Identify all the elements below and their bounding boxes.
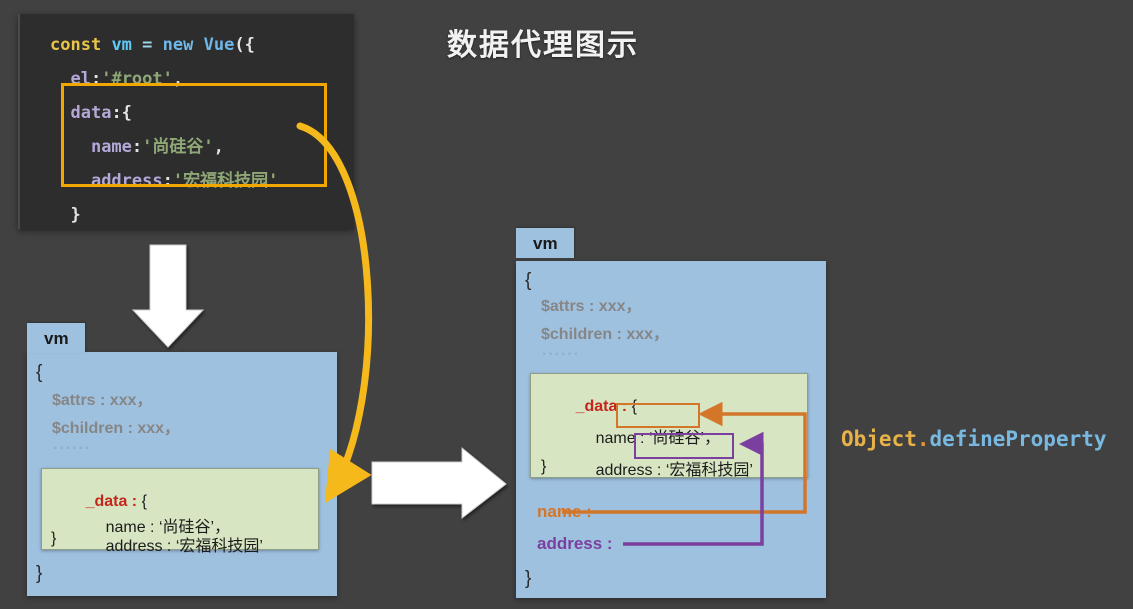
left-entry-address-key: address [106,538,163,555]
code-token [50,205,70,225]
code-token: vm [111,35,131,55]
odp-method: defineProperty [930,427,1107,451]
code-token: = [142,35,152,55]
page-title: 数据代理图示 [447,20,639,64]
left-vm-open-brace: { [36,362,42,384]
right-entry-address-key: address [596,462,653,479]
right-vm-tab: vm [516,228,574,258]
white-right-arrow [372,448,506,518]
right-vm-field-children: $children : xxx， [541,320,669,344]
code-token [193,35,203,55]
left-data-box: _data : { name : ‘尚硅谷’， address : ‘宏福科技园… [41,468,319,550]
code-token [152,35,162,55]
left-data-entry-address: address : ‘宏福科技园’ [70,514,263,574]
left-data-close: } [51,530,56,548]
left-vm-field-attrs: $attrs : xxx， [52,386,153,410]
data-option-highlight-box [61,83,327,187]
code-token: const [50,35,101,55]
code-line-5: } [20,198,354,229]
left-vm-tab: vm [27,323,85,353]
left-vm-close-brace: } [36,563,42,585]
address-value-highlight [634,433,734,459]
diagram-canvas: const vm = new Vue({ el:'#root', data:{ … [0,0,1133,609]
code-token [101,35,111,55]
left-entry-address-value: ‘宏福科技园’ [176,538,263,555]
code-line-0: const vm = new Vue({ [20,28,354,62]
accessor-name: name : [537,502,592,522]
right-vm-close-brace: } [525,568,531,590]
code-token: } [70,205,80,225]
right-vm-ellipsis: ······ [542,346,580,364]
odp-object: Object [841,427,917,451]
code-token: Vue [204,35,235,55]
right-data-close: } [541,458,546,476]
code-token [132,35,142,55]
right-entry-address-sep: : [652,462,665,479]
code-token: ({ [234,35,254,55]
code-token: new [163,35,194,55]
right-vm-open-brace: { [525,270,531,292]
right-entry-address-value: ‘宏福科技园’ [666,462,753,479]
name-value-highlight [616,403,700,428]
right-vm-field-attrs: $attrs : xxx， [541,292,642,316]
left-vm-panel: vm { $attrs : xxx， $children : xxx， ····… [27,323,337,596]
left-entry-address-sep: : [162,538,175,555]
left-vm-ellipsis: ······ [53,440,91,458]
odp-dot: . [917,427,930,451]
right-vm-panel: vm { $attrs : xxx， $children : xxx， ····… [516,228,826,598]
left-vm-field-children: $children : xxx， [52,414,180,438]
accessor-address: address : [537,534,613,554]
object-define-property-label: Object.defineProperty [841,427,1107,451]
